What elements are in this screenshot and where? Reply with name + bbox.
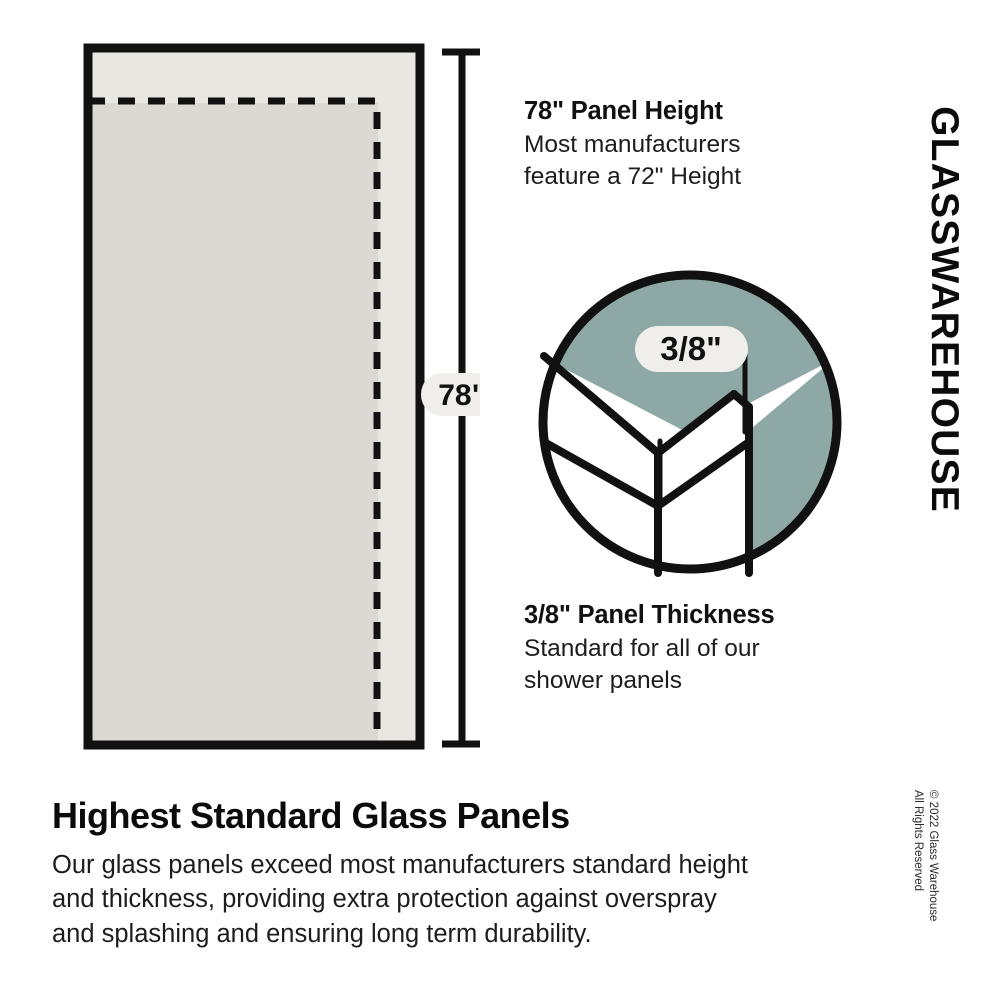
callout-panel-height: 78" Panel Height Most manufacturers feat… — [524, 96, 864, 194]
brand-wordmark-text: GLASSWAREHOUSE — [925, 106, 964, 513]
summary-body: Our glass panels exceed most manufacture… — [52, 848, 882, 952]
copyright-line-2: All Rights Reserved — [911, 790, 926, 921]
summary-block: Highest Standard Glass Panels Our glass … — [52, 796, 882, 952]
callout-panel-thickness-body-line-2: shower panels — [524, 665, 874, 697]
thickness-pill-label: 3/8" — [635, 326, 748, 372]
summary-body-line-3: and splashing and ensuring long term dur… — [52, 917, 882, 952]
brand-wordmark: GLASSWAREHOUSE — [884, 40, 1000, 600]
panel-glass-inner — [88, 103, 378, 745]
panel-diagram: 78" — [80, 40, 480, 760]
callout-panel-height-body-line-1: Most manufacturers — [524, 129, 864, 161]
copyright-notice: © 2022 Glass Warehouse All Rights Reserv… — [880, 790, 1000, 830]
callout-panel-thickness-body: Standard for all of our shower panels — [524, 633, 874, 698]
thickness-pill-text: 3/8" — [660, 330, 722, 367]
callout-panel-height-title: 78" Panel Height — [524, 96, 864, 126]
callout-panel-height-body-line-2: feature a 72" Height — [524, 161, 864, 193]
infographic-canvas: 78" 78" Panel Height Most manufacturers … — [0, 0, 1000, 1000]
callout-panel-thickness-body-line-1: Standard for all of our — [524, 633, 874, 665]
summary-body-line-1: Our glass panels exceed most manufacture… — [52, 848, 882, 883]
summary-body-line-2: and thickness, providing extra protectio… — [52, 882, 882, 917]
callout-panel-thickness-title: 3/8" Panel Thickness — [524, 600, 874, 630]
callout-panel-height-body: Most manufacturers feature a 72" Height — [524, 129, 864, 194]
callout-panel-thickness: 3/8" Panel Thickness Standard for all of… — [524, 600, 874, 698]
height-dimension-text: 78" — [438, 379, 480, 412]
copyright-line-1: © 2022 Glass Warehouse — [925, 790, 940, 921]
height-dimension-label: 78" — [421, 373, 480, 416]
thickness-detail-diagram: 3/8" — [534, 266, 846, 578]
summary-title: Highest Standard Glass Panels — [52, 796, 882, 836]
